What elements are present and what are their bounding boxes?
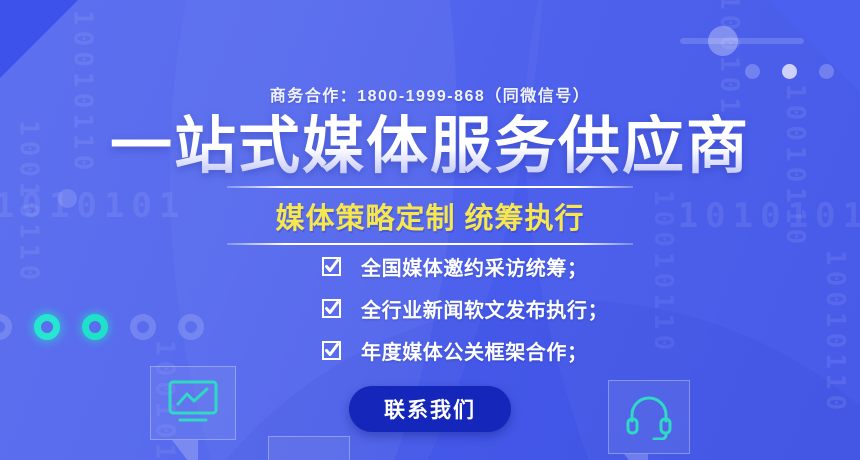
- contact-info-line: 商务合作：1800-1999-868（同微信号）: [0, 82, 860, 106]
- list-item-label: 全行业新闻软文发布执行；: [361, 294, 608, 323]
- list-item: 全国媒体邀约采访统筹；: [322, 252, 608, 281]
- list-item: 年度媒体公关框架合作；: [322, 336, 608, 365]
- page-title: 一站式媒体服务供应商: [0, 114, 860, 179]
- feature-list: 全国媒体邀约采访统筹； 全行业新闻软文发布执行；: [322, 252, 608, 365]
- checkbox-checked-icon: [322, 257, 341, 276]
- checkbox-checked-icon: [322, 341, 341, 360]
- list-item-label: 年度媒体公关框架合作；: [361, 336, 588, 365]
- subtitle-rule-bottom: [227, 243, 633, 245]
- promo-banner: 1010101 1010101 10010110 10010110 100101…: [0, 0, 860, 460]
- subtitle-text: 媒体策略定制 统筹执行: [227, 188, 633, 243]
- checkbox-checked-icon: [322, 299, 341, 318]
- list-item: 全行业新闻软文发布执行；: [322, 294, 608, 323]
- subtitle-block: 媒体策略定制 统筹执行: [227, 186, 633, 245]
- contact-us-button[interactable]: 联系我们: [349, 386, 511, 432]
- list-item-label: 全国媒体邀约采访统筹；: [361, 252, 588, 281]
- banner-content: 商务合作：1800-1999-868（同微信号） 一站式媒体服务供应商 媒体策略…: [0, 0, 860, 460]
